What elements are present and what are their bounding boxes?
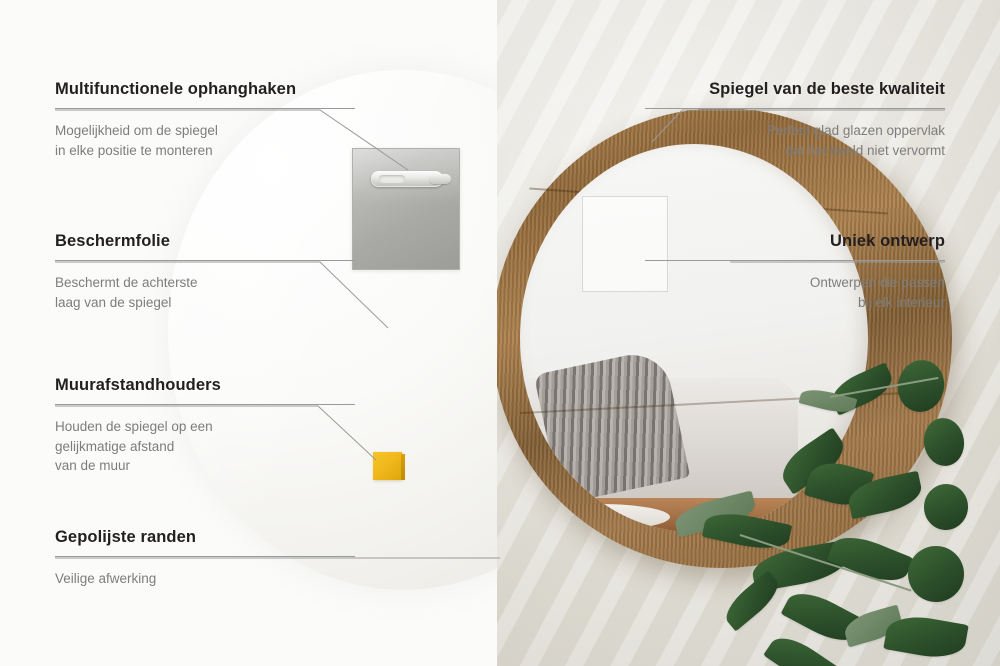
leaf — [827, 528, 914, 589]
callout-rule — [645, 108, 945, 109]
hanger-plate — [352, 148, 460, 270]
reflected-rug — [530, 504, 670, 530]
callout-title: Spiegel van de beste kwaliteit — [645, 80, 945, 99]
callout-ophanghaken: Multifunctionele ophanghaken Mogelijkhei… — [55, 80, 355, 160]
callout-beschermfolie: Beschermfolie Beschermt de achterste laa… — [55, 232, 355, 312]
hanger-slot-icon — [379, 175, 405, 183]
callout-rule — [55, 556, 355, 557]
callout-muurafstandhouders: Muurafstandhouders Houden de spiegel op … — [55, 376, 355, 476]
leaf — [905, 543, 967, 605]
callout-rule — [55, 404, 355, 405]
leaf — [921, 415, 967, 468]
leaf — [922, 482, 971, 532]
callout-rule — [55, 260, 355, 261]
callout-beste-kwaliteit: Spiegel van de beste kwaliteit Perfect g… — [645, 80, 945, 160]
reflected-throw-blanket — [534, 348, 691, 505]
callout-title: Gepolijste randen — [55, 528, 355, 547]
callout-title: Beschermfolie — [55, 232, 355, 251]
callout-body: Houden de spiegel op een gelijkmatige af… — [55, 417, 355, 476]
callout-body: Beschermt de achterste laag van de spieg… — [55, 273, 355, 312]
callout-title: Multifunctionele ophanghaken — [55, 80, 355, 99]
leaf — [893, 356, 949, 416]
plant-foliage — [680, 356, 1000, 666]
callout-rule — [645, 260, 945, 261]
callout-body: Veilige afwerking — [55, 569, 355, 589]
infographic-stage: Multifunctionele ophanghaken Mogelijkhei… — [0, 0, 1000, 666]
leaf — [719, 570, 785, 631]
callout-title: Uniek ontwerp — [645, 232, 945, 251]
callout-body: Mogelijkheid om de spiegel in elke posit… — [55, 121, 355, 160]
callout-uniek-ontwerp: Uniek ontwerp Ontwerpen die passen bij e… — [645, 232, 945, 312]
callout-body: Ontwerpen die passen bij elk interieur — [645, 273, 945, 312]
wall-spacer-block — [373, 452, 402, 480]
callout-body: Perfect glad glazen oppervlak dat het be… — [645, 121, 945, 160]
callout-title: Muurafstandhouders — [55, 376, 355, 395]
callout-gepolijste-randen: Gepolijste randen Veilige afwerking — [55, 528, 355, 589]
callout-rule — [55, 108, 355, 109]
